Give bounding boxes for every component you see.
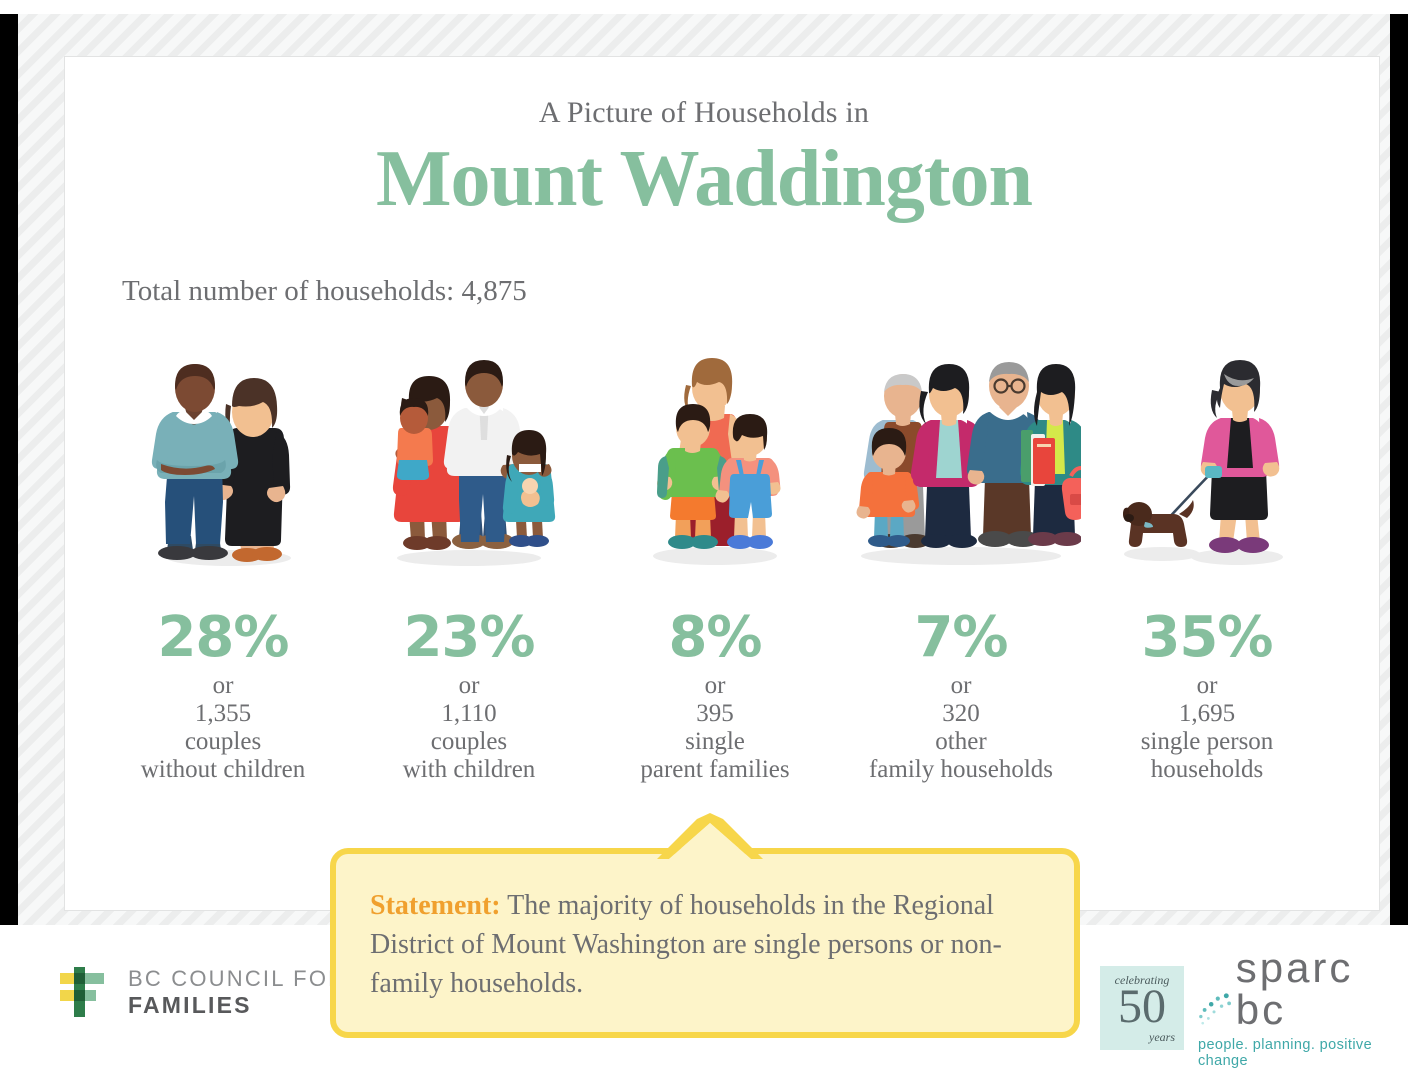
infographic-poster: A Picture of Households in Mount Wadding… — [0, 0, 1408, 1088]
sparc-bc-logo[interactable]: celebrating 50 years — [1100, 947, 1408, 1069]
stat-column-single-person-households: 35% or 1,695 single person households — [1084, 336, 1330, 784]
bc-council-line-2: FAMILIES — [128, 992, 346, 1019]
bc-council-line-1: BC COUNCIL FOR — [128, 966, 346, 992]
stat-or-word: or — [705, 672, 726, 700]
stat-description: other family households — [869, 728, 1053, 784]
badge-years-text: years — [1149, 1030, 1175, 1045]
sparc-tagline: people. planning. positive change — [1198, 1037, 1408, 1069]
stat-count: 1,355 — [195, 700, 251, 728]
stat-count: 320 — [942, 700, 980, 728]
stat-description: couples without children — [141, 728, 306, 784]
statistics-row: 28% or 1,355 couples without children — [100, 336, 1330, 816]
statement-callout: Statement: The majority of households in… — [330, 848, 1080, 1038]
badge-number-text: 50 — [1100, 983, 1184, 1031]
stat-description: single parent families — [640, 728, 789, 784]
bc-council-for-families-logo[interactable]: BC COUNCIL FOR FAMILIES — [58, 963, 346, 1021]
statement-callout-pointer — [655, 813, 765, 861]
stat-column-single-parent-families: 8% or 395 single parent families — [592, 336, 838, 784]
couple-without-children-illustration — [100, 336, 346, 568]
sparc-dots-icon — [1198, 991, 1236, 1027]
stat-count: 1,110 — [441, 700, 496, 728]
single-parent-family-illustration — [592, 336, 838, 568]
stat-percent: 35% — [1141, 610, 1272, 666]
bc-council-for-families-logo-mark — [58, 963, 114, 1021]
page-subtitle: A Picture of Households in — [0, 96, 1408, 130]
stat-or-word: or — [459, 672, 480, 700]
stat-or-word: or — [951, 672, 972, 700]
statement-text: Statement: The majority of households in… — [370, 886, 1046, 1004]
stat-percent: 23% — [403, 610, 534, 666]
single-person-household-illustration — [1084, 336, 1330, 568]
couple-with-children-illustration — [346, 336, 592, 568]
other-family-households-illustration — [838, 336, 1084, 568]
stat-column-couples-with-children: 23% or 1,110 couples with children — [346, 336, 592, 784]
sparc-wordmark: sparc bc — [1236, 947, 1408, 1031]
stat-or-word: or — [1197, 672, 1218, 700]
page-title: Mount Waddington — [0, 137, 1408, 221]
stat-count: 395 — [696, 700, 734, 728]
stat-description: single person households — [1141, 728, 1274, 784]
stat-column-other-family-households: 7% or 320 other family households — [838, 336, 1084, 784]
statement-label: Statement: — [370, 890, 501, 921]
stat-description: couples with children — [403, 728, 536, 784]
total-households-label: Total number of households: 4,875 — [122, 275, 527, 308]
stat-percent: 28% — [157, 610, 288, 666]
stat-or-word: or — [213, 672, 234, 700]
stat-percent: 8% — [668, 610, 761, 666]
stat-count: 1,695 — [1179, 700, 1235, 728]
celebrating-50-years-badge: celebrating 50 years — [1100, 966, 1184, 1050]
stat-column-couples-without-children: 28% or 1,355 couples without children — [100, 336, 346, 784]
stat-percent: 7% — [914, 610, 1007, 666]
